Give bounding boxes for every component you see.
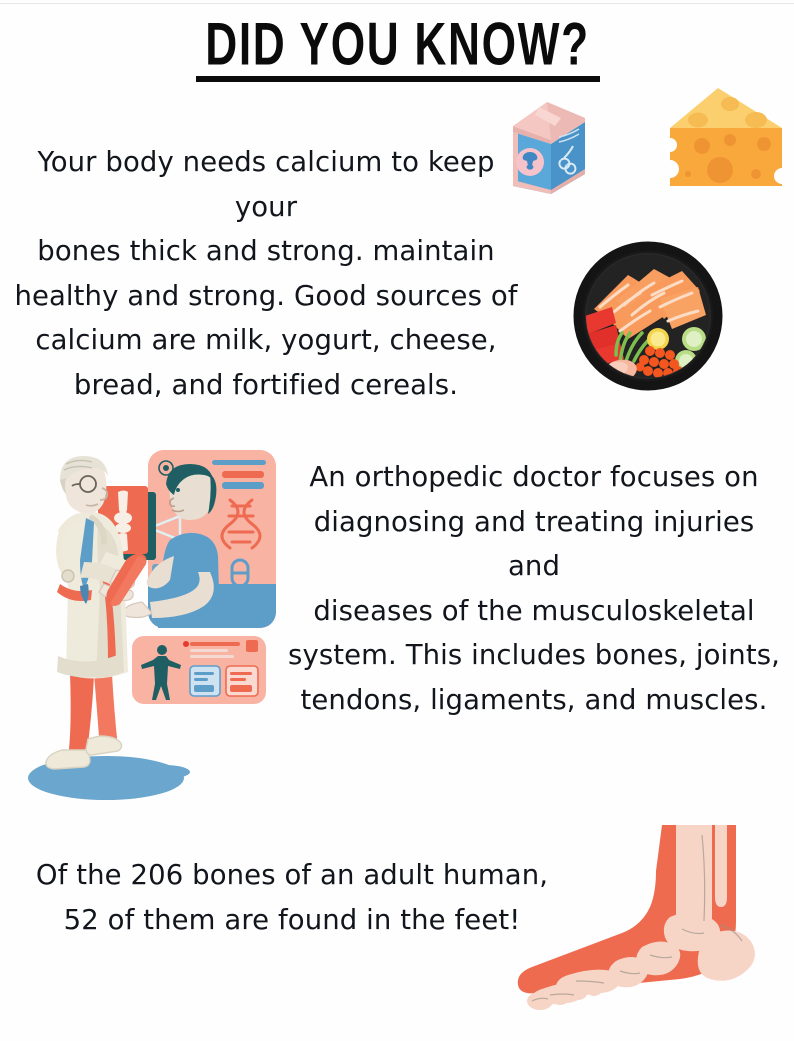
page-title: DID YOU KNOW? [201, 14, 592, 76]
foot-bones-illustration [516, 825, 788, 1035]
cheese-wedge-illustration [652, 82, 788, 194]
milk-carton-illustration [501, 96, 593, 200]
fact-paragraph-feet-bones: Of the 206 bones of an adult human, 52 o… [32, 853, 552, 942]
sashimi-bowl-illustration [572, 243, 724, 390]
page-title-wrapper: DID YOU KNOW? [0, 14, 794, 69]
worksheet-page: DID YOU KNOW? Your body needs calcium to… [0, 0, 794, 1041]
page-title-underline [196, 76, 600, 82]
doctor-consultation-illustration [14, 444, 282, 816]
fact-paragraph-orthopedic: An orthopedic doctor focuses on diagnosi… [288, 455, 780, 722]
top-divider [0, 3, 794, 4]
fact-paragraph-calcium: Your body needs calcium to keep your bon… [2, 140, 530, 407]
